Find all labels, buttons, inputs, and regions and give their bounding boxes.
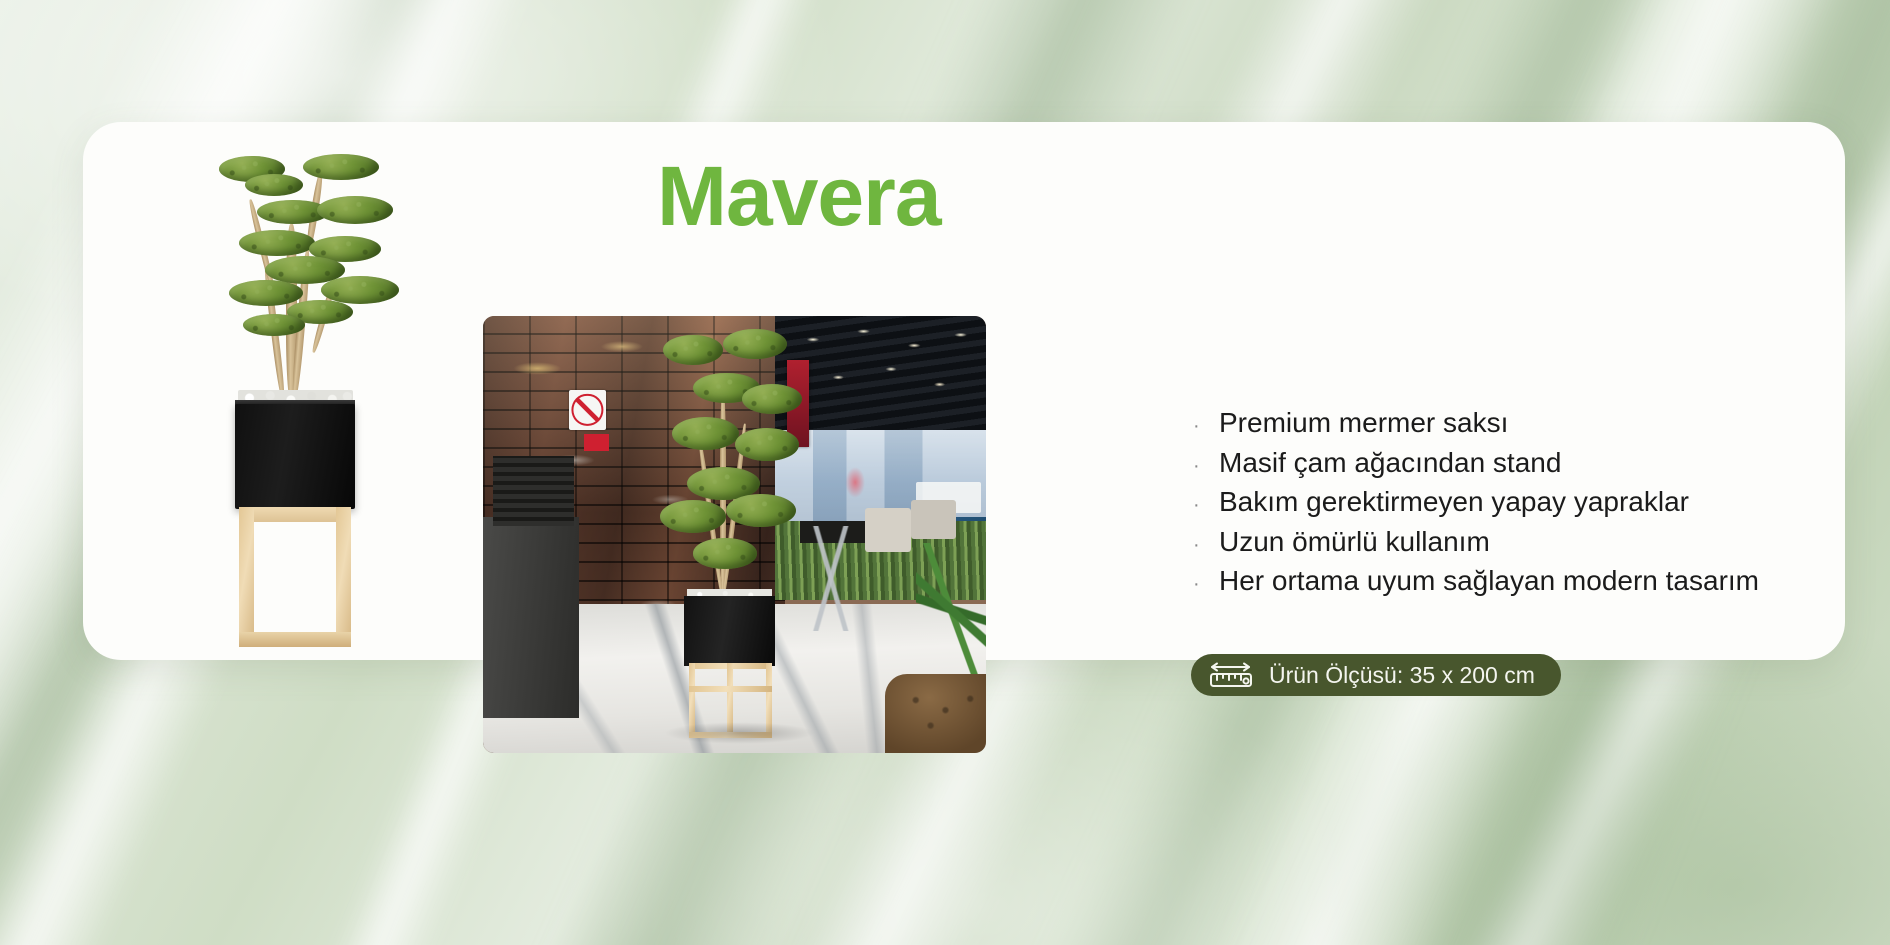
showroom-chair <box>911 500 956 539</box>
feature-text: Her ortama uyum sağlayan modern tasarım <box>1219 567 1759 595</box>
bullet-marker: · <box>1193 495 1219 515</box>
feature-list: · Premium mermer saksı · Masif çam ağacı… <box>1193 409 1793 607</box>
dark-cabinet <box>483 517 579 718</box>
feature-text: Bakım gerektirmeyen yapay yapraklar <box>1219 488 1689 516</box>
list-item: · Premium mermer saksı <box>1193 409 1793 437</box>
no-smoking-sign <box>569 390 607 429</box>
displayed-bonsai-tree <box>654 329 805 604</box>
product-card: Mavera <box>83 122 1845 660</box>
wooden-stand <box>239 507 351 647</box>
list-item: · Bakım gerektirmeyen yapay yapraklar <box>1193 488 1793 516</box>
list-item: · Her ortama uyum sağlayan modern tasarı… <box>1193 567 1793 595</box>
feature-text: Uzun ömürlü kullanım <box>1219 528 1490 556</box>
leather-sofa <box>885 674 986 753</box>
product-card-page: Mavera <box>0 0 1890 945</box>
list-item: · Uzun ömürlü kullanım <box>1193 528 1793 556</box>
metal-easel <box>805 526 860 631</box>
bullet-marker: · <box>1193 456 1219 476</box>
showroom-chair <box>865 508 910 552</box>
palm-leaves <box>916 543 986 674</box>
black-marble-pot <box>235 404 355 509</box>
page-title: Mavera <box>657 154 941 238</box>
bullet-marker: · <box>1193 535 1219 555</box>
floor-shadow <box>664 722 815 744</box>
red-warning-sign <box>584 434 609 451</box>
ruler-icon <box>1207 660 1255 690</box>
bullet-marker: · <box>1193 416 1219 436</box>
lifestyle-photo[interactable] <box>483 316 986 753</box>
black-marble-pot <box>684 596 775 666</box>
size-badge-label: Ürün Ölçüsü: 35 x 200 cm <box>1269 664 1535 687</box>
size-badge: Ürün Ölçüsü: 35 x 200 cm <box>1191 654 1561 696</box>
stacked-boxes <box>493 456 573 526</box>
bullet-marker: · <box>1193 574 1219 594</box>
list-item: · Masif çam ağacından stand <box>1193 449 1793 477</box>
feature-text: Masif çam ağacından stand <box>1219 449 1561 477</box>
bonsai-tree-graphic <box>193 132 533 432</box>
feature-text: Premium mermer saksı <box>1219 409 1508 437</box>
product-image <box>193 132 533 652</box>
